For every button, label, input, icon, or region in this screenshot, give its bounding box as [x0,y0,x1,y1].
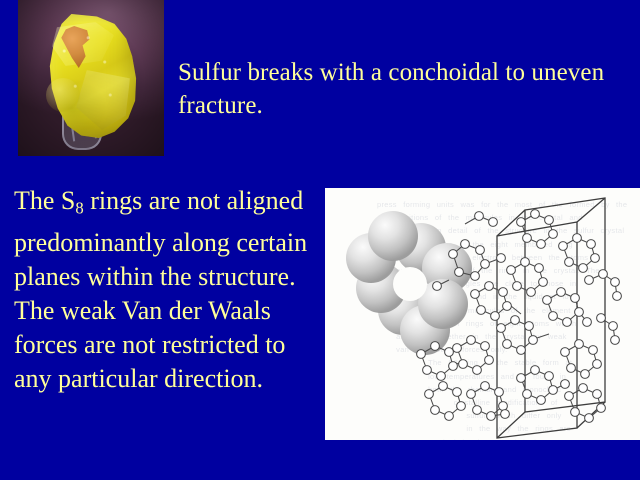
crystal-structure-figure: press forming units was for the most of … [325,188,640,440]
s8-ring-space-filling-model [346,211,472,355]
slide-canvas: Sulfur breaks with a conchoidal to uneve… [0,0,640,480]
photo-vignette [18,0,164,156]
body-paragraph: The S8 rings are not aligned predominant… [14,184,314,396]
subscript-eight: 8 [75,199,83,218]
body-text-part-1: The S [14,186,75,215]
body-text-part-2: rings are not aligned predominantly alon… [14,186,307,393]
heading-text: Sulfur breaks with a conchoidal to uneve… [178,56,624,122]
figure-svg [325,188,640,440]
sulfur-crystal-photo [18,0,164,156]
